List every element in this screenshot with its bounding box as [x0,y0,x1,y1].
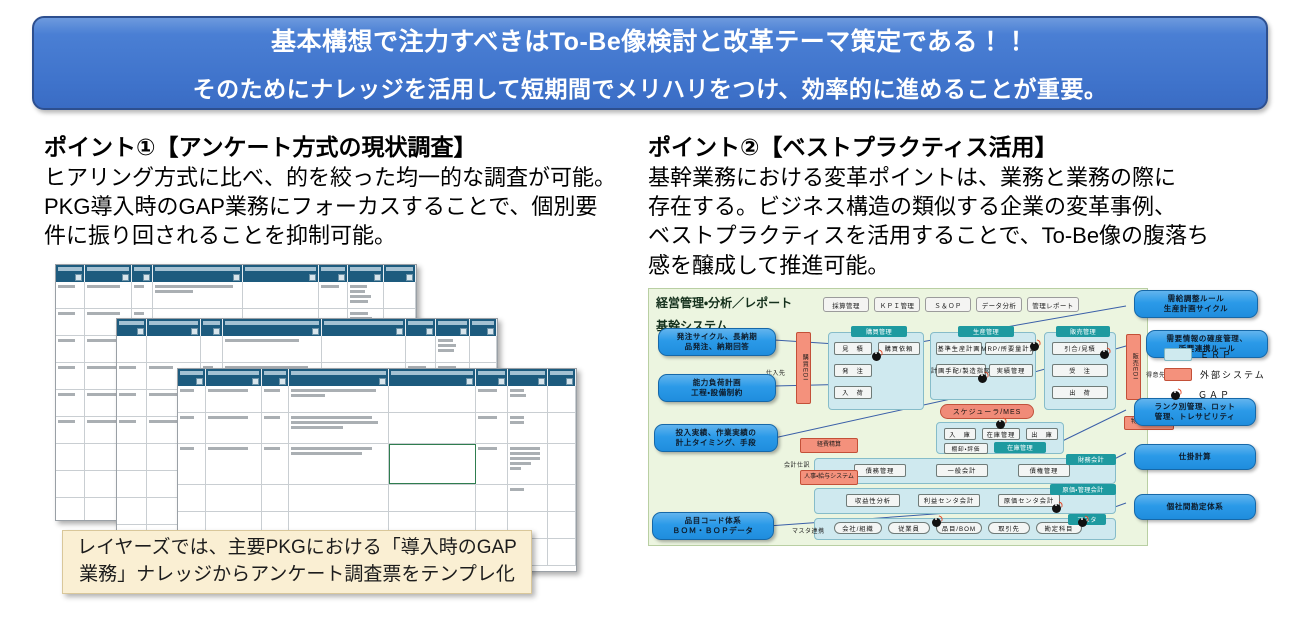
node-scheduler-mes[interactable]: スケジューラ/MES [940,404,1034,419]
node-goods-issue[interactable]: 出 庫 [1026,428,1058,440]
callout-left-2-line2: 計上タイミング、手段 [676,438,756,448]
point2-section: ポイント②【ベストプラクティス活用】 基幹業務における変革ポイントは、業務と業務… [648,132,1268,280]
callout-right-3-line1: 仕掛計算 [1179,452,1211,462]
table-row [117,336,497,363]
node-goods-receipt[interactable]: 入 庫 [944,428,976,440]
point1-section: ポイント①【アンケート方式の現状調査】 ヒアリング方式に比べ、的を絞った均一的な… [44,132,644,251]
gap-icon-cost [1052,502,1063,513]
node-sales-order[interactable]: 受 注 [1052,364,1108,377]
label-customer: 得意先 [1146,370,1166,379]
callout-right-0-line1: 需給調整ルール [1168,294,1225,304]
legend-item-external: 外部システム [1164,368,1269,381]
callout-right-2-line2: 管理、トレサビリティ [1155,412,1236,422]
header-banner: 基本構想で注力すべきはTo-Be像検討と改革テーマ策定である！！ そのためにナレ… [32,16,1268,110]
label-master-link: マスタ連携 [792,526,825,535]
bomb-icon [1164,389,1190,401]
legend-item-erp: ＥＲＰ [1164,348,1269,361]
node-payables[interactable]: 債務管理 [854,464,906,477]
node-quotation[interactable]: 見 積 [834,342,872,355]
gap-icon-inventory [996,418,1007,429]
production-zone-tag: 生産管理 [958,326,1014,337]
point1-line-1: ヒアリング方式に比べ、的を絞った均一的な調査が可能。 [44,163,644,192]
legend-label-external: 外部システム [1200,368,1266,381]
sheet-header-row [178,369,576,386]
label-accounting-journal: 会計仕訳 [784,460,810,469]
erp-swatch-icon [1164,348,1192,361]
table-row [178,485,576,512]
callout-left-0: 発注サイクル、長納期 品発注、納期回答 [658,328,776,356]
node-profit-center[interactable]: 利益センタ会計 [918,494,980,507]
legend-item-gap: ＧＡＰ [1164,388,1269,401]
banner-line-1: 基本構想で注力すべきはTo-Be像検討と改革テーマ策定である！！ [271,22,1029,58]
gap-icon-purchase [872,350,883,361]
cost-zone-tag: 原価・管理会計 [1050,484,1116,495]
callout-left-1-line1: 能力負荷計画 [693,378,742,388]
node-stocktaking[interactable]: 棚卸・評価 [944,443,988,454]
node-receipt[interactable]: 入 荷 [834,386,872,399]
table-row [56,282,416,309]
top-button-0[interactable]: 採算管理 [823,297,869,312]
callout-left-1: 能力負荷計画 工程・設備制約 [658,374,776,402]
callout-right-4: 個社間勘定体系 [1134,494,1256,520]
top-button-1[interactable]: ＫＰＩ管理 [874,297,920,312]
gap-icon-account-code [1078,516,1089,527]
callout-right-4-line1: 個社間勘定体系 [1167,502,1224,512]
template-callout: レイヤーズでは、主要PKGにおける「導入時のGAP 業務」ナレッジからアンケート… [62,530,532,594]
gap-icon-planned-order [978,372,989,383]
callout-line-2: 業務」ナレッジからアンケート調査票をテンプレ化 [79,562,515,589]
top-button-4[interactable]: 管理レポート [1027,297,1079,312]
callout-left-3-line2: ＢＯＭ・ＢＯＰデータ [673,526,754,536]
external-hr-payroll[interactable]: 人事・給与システム [800,470,858,485]
node-master-production-plan[interactable]: 基準生産計画 [936,342,982,355]
table-row [178,444,576,485]
top-button-3[interactable]: データ分析 [976,297,1022,312]
point1-line-3: 件に振り回されることを抑制可能。 [44,221,644,250]
gap-icon-item-bom [932,516,943,527]
callout-left-3-line1: 品目コード体系 [685,516,742,526]
external-expense[interactable]: 経費精算 [800,438,858,453]
point2-title: ポイント②【ベストプラクティス活用】 [648,132,1268,163]
callout-left-0-line1: 発注サイクル、長納期 [677,332,758,342]
callout-left-2-line1: 投入実績、作業実績の [676,428,757,438]
node-receivables[interactable]: 債権管理 [1018,464,1070,477]
point2-line-4: 感を醸成して推進可能。 [648,251,1268,280]
callout-left-1-line2: 工程・設備制約 [691,388,743,398]
sheet-header-row [117,319,497,336]
point1-body: ヒアリング方式に比べ、的を絞った均一的な調査が可能。 PKG導入時のGAP業務に… [44,163,644,251]
callout-right-0: 需給調整ルール 生産計画サイクル [1134,290,1258,318]
node-inventory-mgmt[interactable]: 在庫管理 [982,428,1020,440]
inventory-zone-tag: 在庫管理 [994,442,1046,453]
gap-icon-sales [1100,348,1111,359]
sales-zone-tag: 販売管理 [1056,326,1110,337]
point2-line-1: 基幹業務における変革ポイントは、業務と業務の際に [648,163,1268,192]
point2-body: 基幹業務における変革ポイントは、業務と業務の際に 存在する。ビジネス構造の類似す… [648,163,1268,280]
node-business-partner[interactable]: 取引先 [988,522,1030,534]
callout-left-3: 品目コード体系 ＢＯＭ・ＢＯＰデータ [652,512,774,540]
callout-right-0-line2: 生産計画サイクル [1164,304,1228,314]
purchase-zone-tag: 購買管理 [851,326,907,337]
point1-line-2: PKG導入時のGAP業務にフォーカスすることで、個別要 [44,192,644,221]
map-header-label: 経営管理・分析／レポート [656,294,792,311]
node-mrp[interactable]: MRP/所要量計算 [985,342,1033,355]
legend-label-erp: ＥＲＰ [1200,348,1233,361]
node-cost-center[interactable]: 原価センタ会計 [998,494,1060,507]
node-employee[interactable]: 従業員 [888,522,930,534]
node-general-ledger[interactable]: 一般会計 [936,464,988,477]
node-shipment[interactable]: 出 荷 [1052,386,1108,399]
node-order[interactable]: 発 注 [834,364,872,377]
top-button-2[interactable]: Ｓ＆ＯＰ [925,297,971,312]
callout-right-1-line1: 需要情報の確度管理、 [1167,334,1248,344]
node-profitability-analysis[interactable]: 収益性分析 [846,494,900,507]
banner-line-2: そのためにナレッジを活用して短期間でメリハリをつけ、効率的に進めることが重要。 [193,70,1108,104]
map-legend: ＥＲＰ 外部システム ＧＡＰ [1164,348,1269,408]
table-row [178,413,576,444]
external-swatch-icon [1164,368,1192,381]
point2-line-3: ベストプラクティスを活用することで、To-Be像の腹落ち [648,221,1268,250]
legend-label-gap: ＧＡＰ [1198,388,1231,401]
node-purchase-request[interactable]: 購買依頼 [878,342,920,355]
node-actual-management[interactable]: 実績管理 [989,364,1033,377]
erp-system-map: 経営管理・分析／レポート 基幹システム 採算管理 ＫＰＩ管理 Ｓ＆ＯＰ データ分… [648,288,1268,556]
callout-left-0-line2: 品発注、納期回答 [685,342,750,352]
finance-zone-tag: 財務会計 [1066,454,1116,465]
table-row [178,386,576,413]
callout-left-2: 投入実績、作業実績の 計上タイミング、手段 [654,424,778,452]
callout-line-1: レイヤーズでは、主要PKGにおける「導入時のGAP [77,535,517,562]
gap-icon-production [1030,340,1041,351]
callout-right-3: 仕掛計算 [1134,444,1256,470]
node-company-org[interactable]: 会社/組織 [834,522,882,534]
external-purchase-edi[interactable]: 購買EDI [796,332,811,404]
point1-title: ポイント①【アンケート方式の現状調査】 [44,132,644,163]
sheet-header-row [56,265,416,282]
external-sales-edi[interactable]: 販売EDI [1126,334,1141,400]
point2-line-2: 存在する。ビジネス構造の類似する企業の変革事例、 [648,192,1268,221]
